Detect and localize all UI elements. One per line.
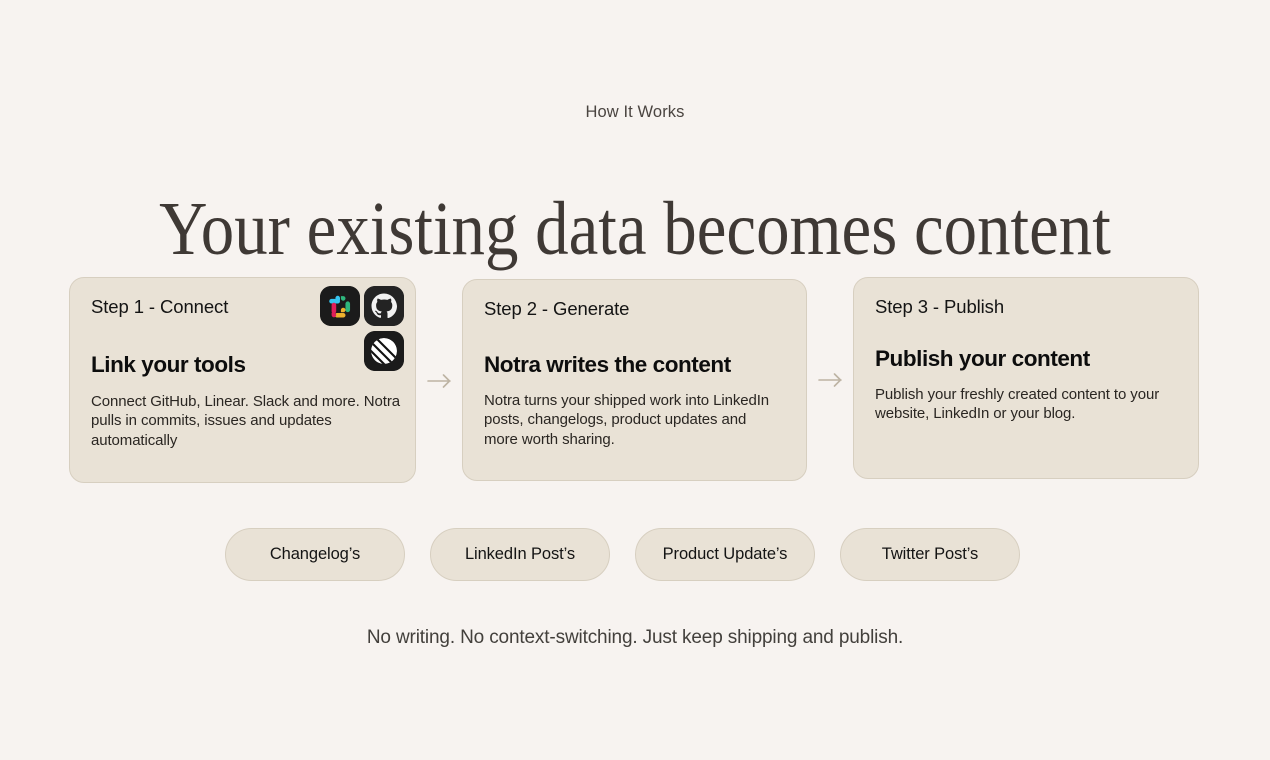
arrow-right-icon (427, 373, 453, 389)
pill-product-updates[interactable]: Product Update’s (635, 528, 815, 581)
integration-icons (320, 286, 410, 378)
linear-icon (364, 331, 404, 371)
step-card-publish: Step 3 - Publish Publish your content Pu… (853, 277, 1199, 479)
step-title: Notra writes the content (484, 352, 784, 378)
slack-icon (320, 286, 360, 326)
pill-twitter-posts[interactable]: Twitter Post’s (840, 528, 1020, 581)
step-label: Step 3 - Publish (875, 296, 1176, 318)
step-description: Notra turns your shipped work into Linke… (484, 391, 770, 449)
pill-changelogs[interactable]: Changelog’s (225, 528, 405, 581)
step-description: Connect GitHub, Linear. Slack and more. … (91, 392, 403, 450)
step-card-generate: Step 2 - Generate Notra writes the conte… (462, 279, 807, 481)
step-title: Publish your content (875, 346, 1176, 372)
arrow-right-icon (818, 372, 844, 388)
step-label: Step 2 - Generate (484, 298, 784, 320)
page-title: Your existing data becomes content (76, 184, 1194, 274)
steps-row: Step 1 - Connect Link your tools Connect… (0, 277, 1270, 487)
content-type-pills: Changelog’s LinkedIn Post’s Product Upda… (0, 528, 1270, 582)
section-eyebrow: How It Works (0, 103, 1270, 122)
github-icon (364, 286, 404, 326)
footer-note: No writing. No context-switching. Just k… (0, 627, 1270, 649)
pill-linkedin-posts[interactable]: LinkedIn Post’s (430, 528, 610, 581)
step-description: Publish your freshly created content to … (875, 385, 1171, 424)
